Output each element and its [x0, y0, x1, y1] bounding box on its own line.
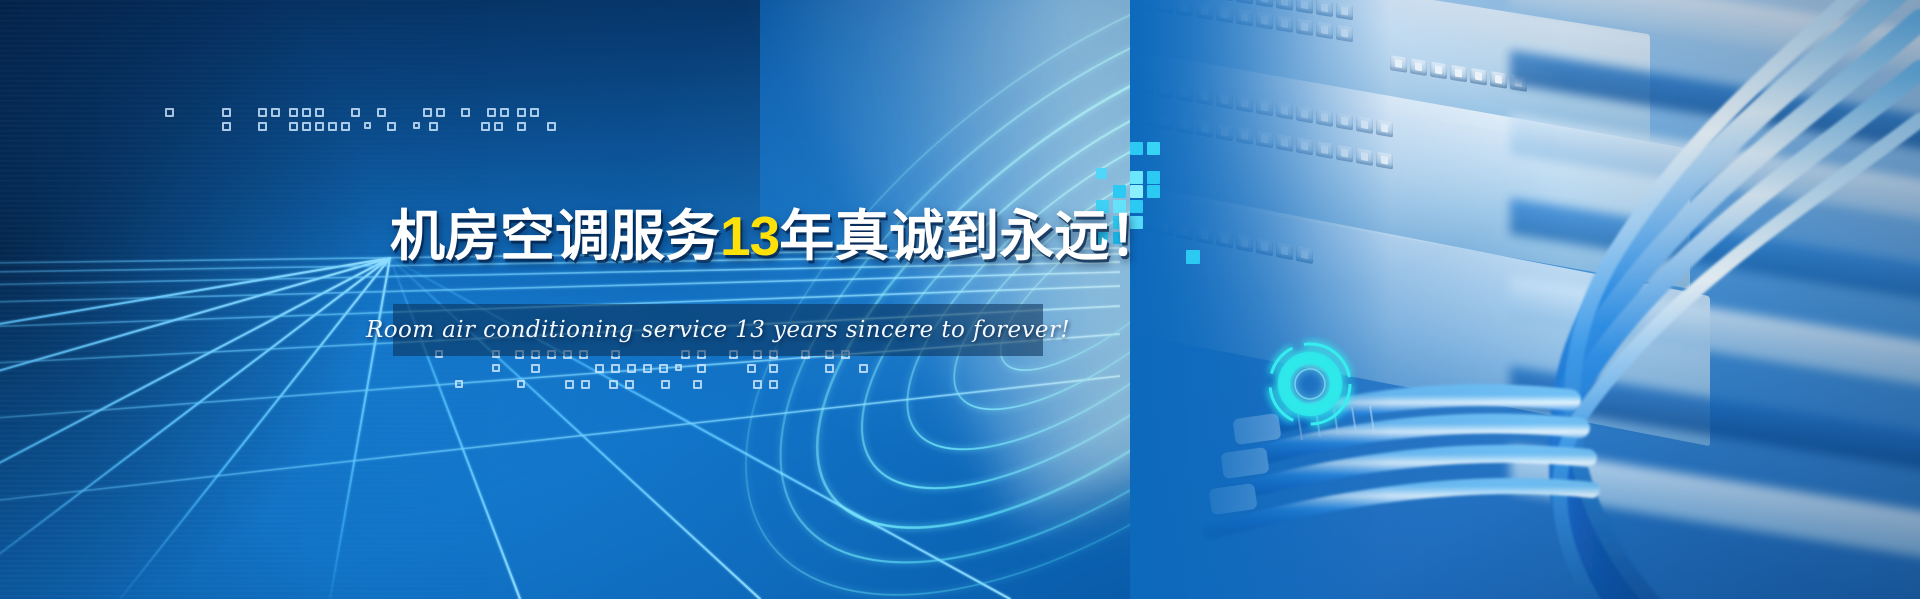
network-switch-and-ethernet-cables — [1130, 0, 1920, 599]
promo-banner: 机房空调服务13年真诚到永远！ Room air conditioning se… — [0, 0, 1920, 599]
photo-left-feather — [1130, 0, 1390, 599]
glowing-tech-ring-icon — [1244, 326, 1394, 456]
page-title: 机房空调服务13年真诚到永远！ — [390, 206, 1164, 266]
pixel-outline-pattern-top — [165, 104, 565, 136]
headline-part-1: 机房空调服务 — [390, 204, 720, 268]
headline-highlight-number: 13 — [720, 205, 779, 267]
subtitle-text: Room air conditioning service 13 years s… — [393, 304, 1043, 356]
headline-part-2: 年真诚到永远！ — [779, 204, 1164, 268]
